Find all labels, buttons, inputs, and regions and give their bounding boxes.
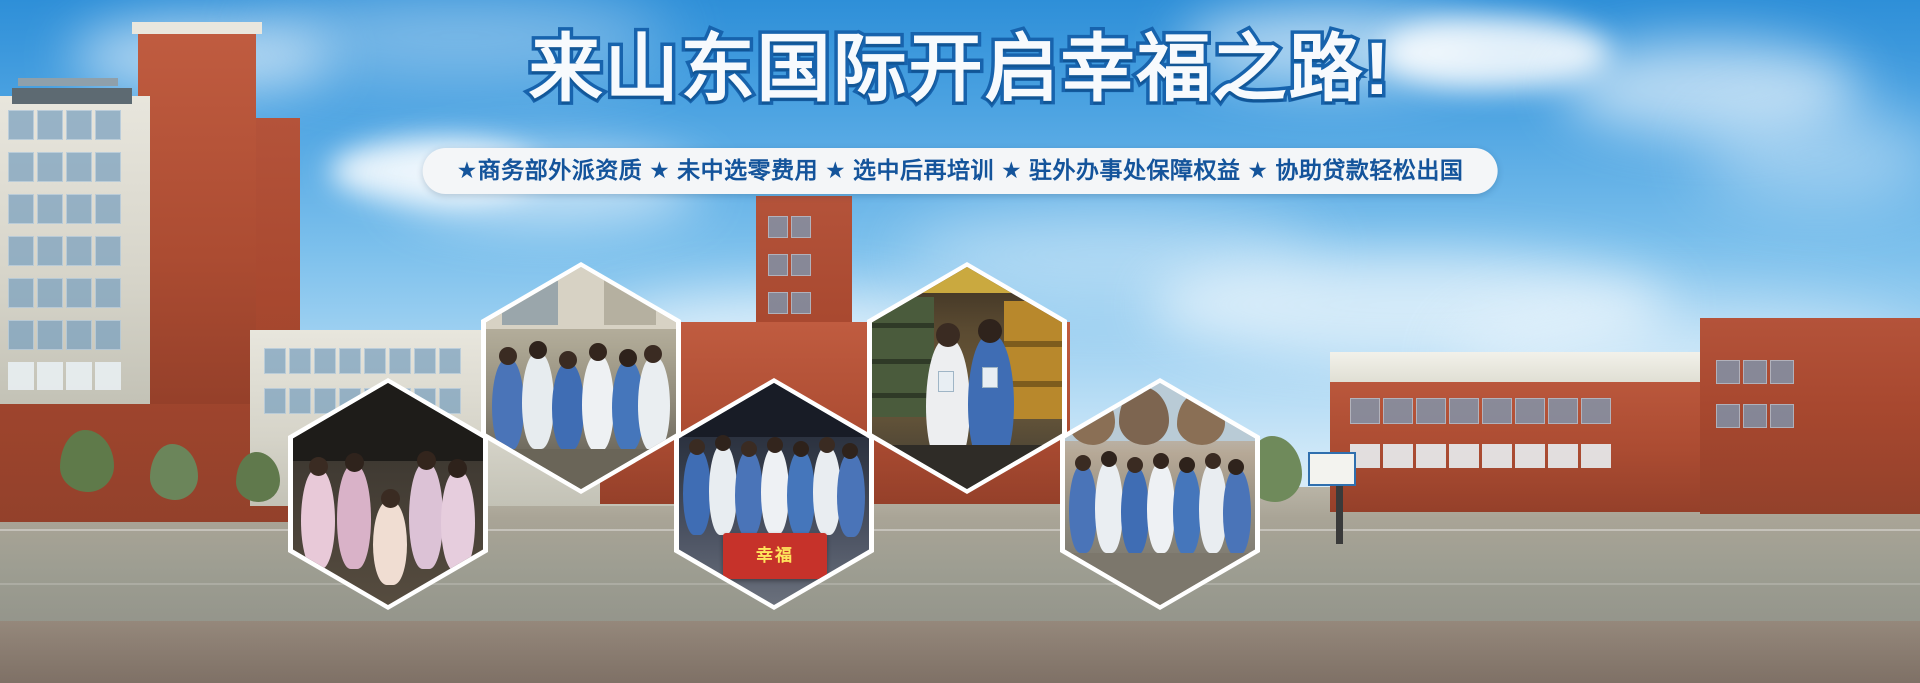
hex-photo-class-outdoor[interactable] <box>1065 383 1255 605</box>
banner-headline: 来山东国际开启幸福之路! <box>0 32 1920 106</box>
group-photo-banner-text: 幸福 <box>723 541 827 566</box>
hex-photo-kimono-group[interactable] <box>293 383 483 605</box>
banner-subtitle-text: ★商务部外派资质 ★ 未中选零费用 ★ 选中后再培训 ★ 驻外办事处保障权益 ★… <box>457 157 1464 183</box>
group-photo-red-banner: 幸福 <box>723 533 827 579</box>
hex-photo-classroom-training[interactable] <box>486 267 676 489</box>
promo-banner: 幸福 <box>0 0 1920 683</box>
hex-photo-group-banner[interactable]: 幸福 <box>679 383 869 605</box>
banner-subtitle-pill: ★商务部外派资质 ★ 未中选零费用 ★ 选中后再培训 ★ 驻外办事处保障权益 ★… <box>423 148 1498 194</box>
hex-photo-supermarket-staff[interactable] <box>872 267 1062 489</box>
